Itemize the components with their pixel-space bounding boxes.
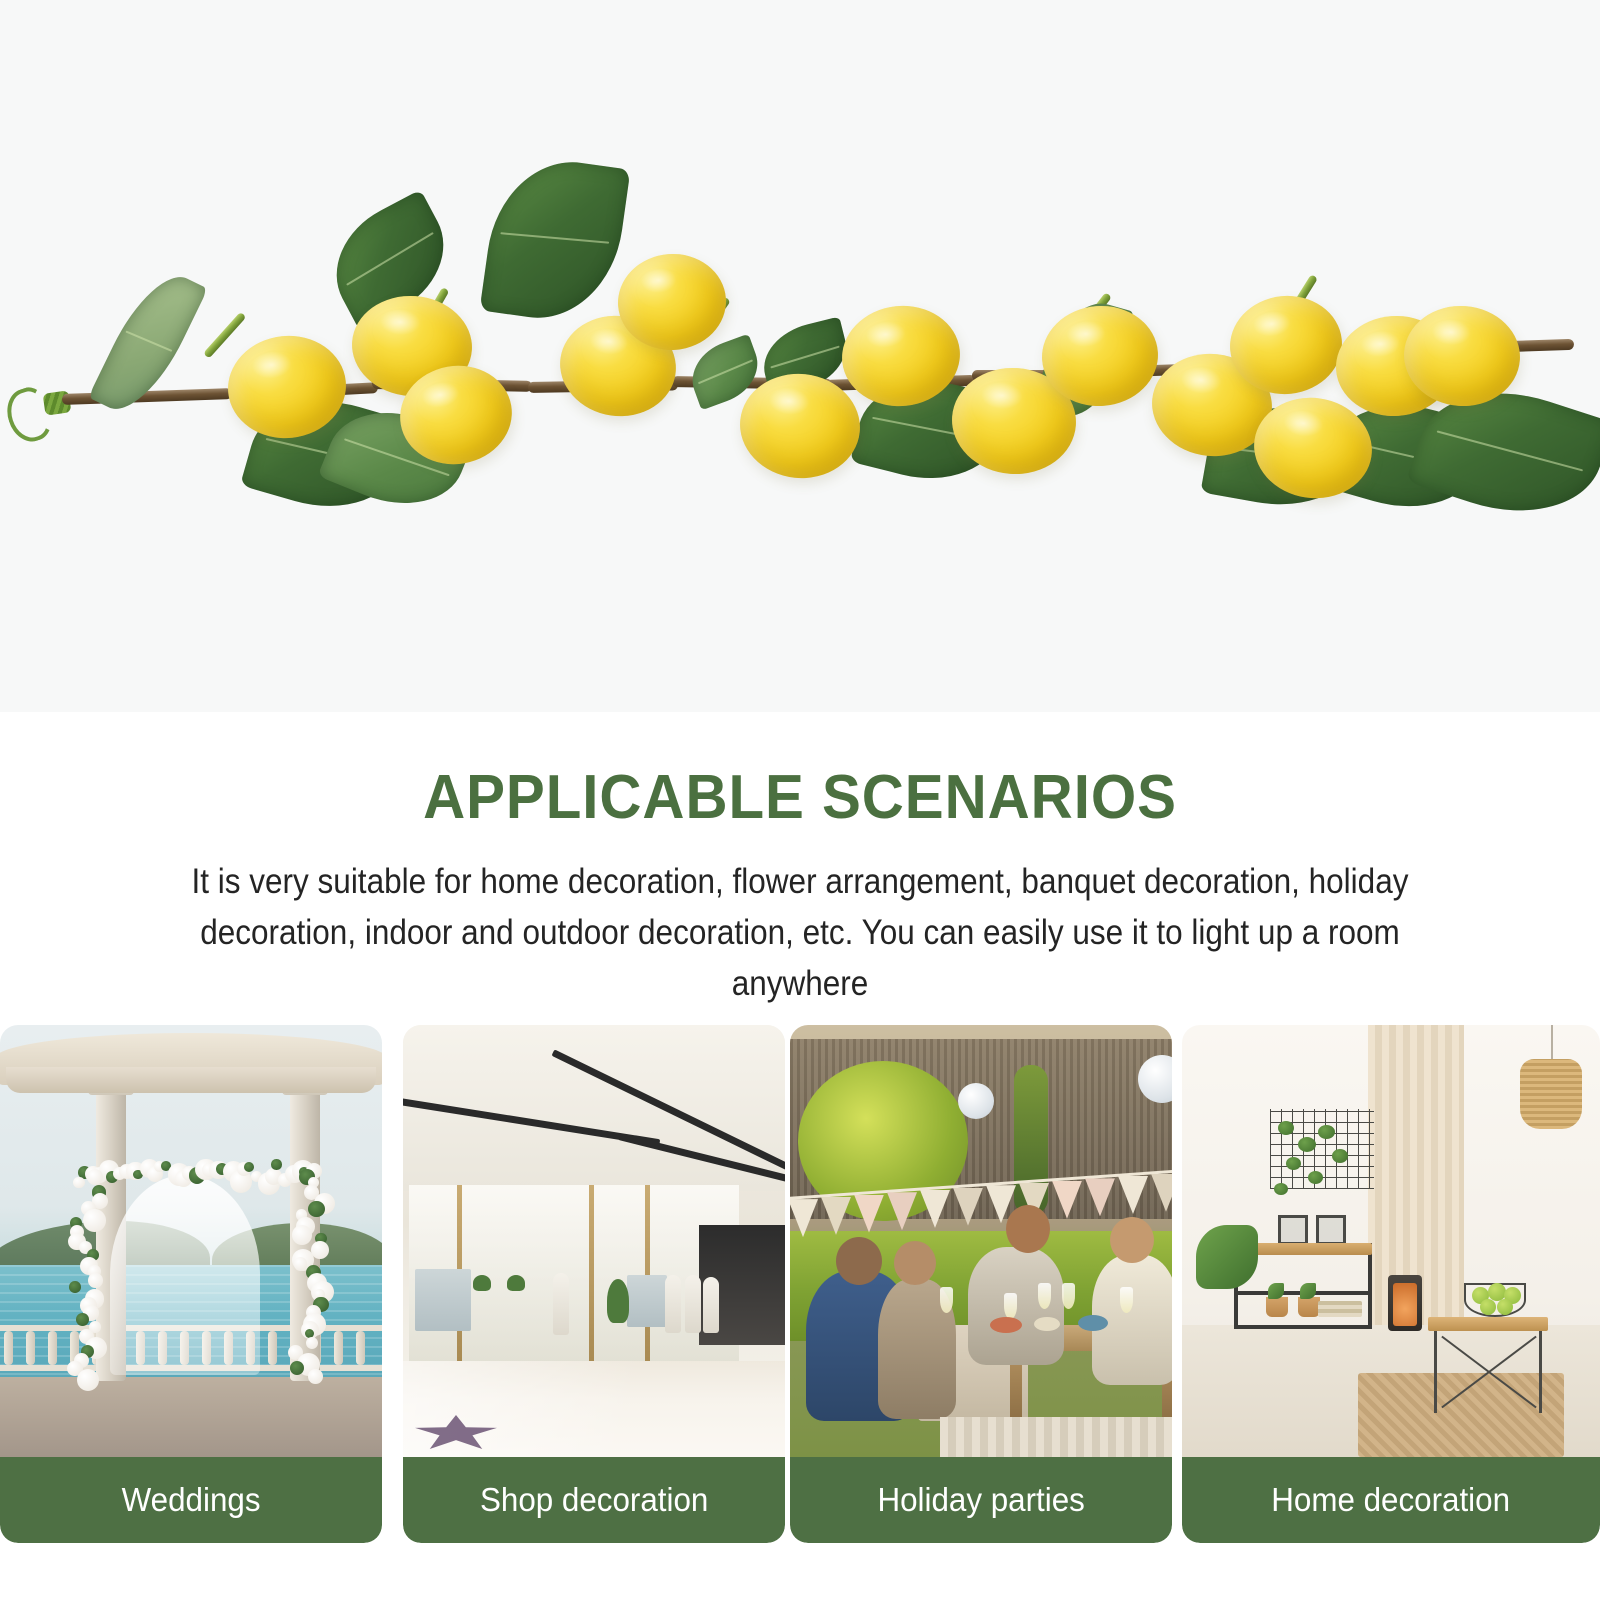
scenario-card-home-decoration[interactable]: Home decoration [1182, 1025, 1600, 1543]
shop-interior-photo [403, 1025, 785, 1457]
scenario-card-shop-decoration[interactable]: Shop decoration [403, 1025, 785, 1543]
leaf-vein [501, 232, 610, 244]
leaf-vein [1437, 430, 1584, 471]
card-caption-label: Shop decoration [480, 1481, 708, 1519]
section-description: It is very suitable for home decoration,… [152, 856, 1448, 1009]
arch-flower [83, 1209, 106, 1232]
scenario-card-holiday-parties[interactable]: Holiday parties [790, 1025, 1172, 1543]
holiday-party-photo [790, 1025, 1172, 1457]
home-interior-photo [1182, 1025, 1600, 1457]
arch-flower [88, 1273, 103, 1288]
card-caption-label: Weddings [122, 1481, 261, 1519]
arch-foliage [308, 1201, 324, 1217]
arch-foliage [271, 1159, 281, 1169]
scenario-card-list: Weddings S [0, 1025, 1600, 1543]
arch-flower [308, 1369, 323, 1384]
arch-flower [294, 1257, 308, 1271]
leaf-vein [346, 232, 433, 286]
garland-green-stem-0 [203, 312, 246, 359]
arch-foliage [76, 1313, 89, 1326]
card-caption-label: Holiday parties [877, 1481, 1084, 1519]
arch-flower [306, 1337, 318, 1349]
scenario-card-weddings[interactable]: Weddings [0, 1025, 382, 1543]
wedding-gazebo-photo [0, 1025, 382, 1457]
arch-flower [292, 1225, 312, 1245]
garland-leaf-2 [479, 152, 630, 329]
arch-foliage [244, 1162, 254, 1172]
leaf-vein [125, 330, 172, 352]
card-caption-label: Home decoration [1272, 1481, 1511, 1519]
card-caption-weddings: Weddings [0, 1457, 382, 1543]
arch-foliage [69, 1281, 81, 1293]
arch-flower [73, 1177, 84, 1188]
card-caption-shop-decoration: Shop decoration [403, 1457, 785, 1543]
hero-product-image [0, 0, 1600, 712]
leaf-vein [697, 359, 752, 384]
card-caption-holiday-parties: Holiday parties [790, 1457, 1172, 1543]
leaf-vein [770, 345, 840, 368]
lemon-garland-illustration [0, 0, 1600, 712]
page-title: APPLICABLE SCENARIOS [48, 760, 1552, 836]
card-caption-home-decoration: Home decoration [1182, 1457, 1600, 1543]
arch-flower [311, 1241, 329, 1259]
